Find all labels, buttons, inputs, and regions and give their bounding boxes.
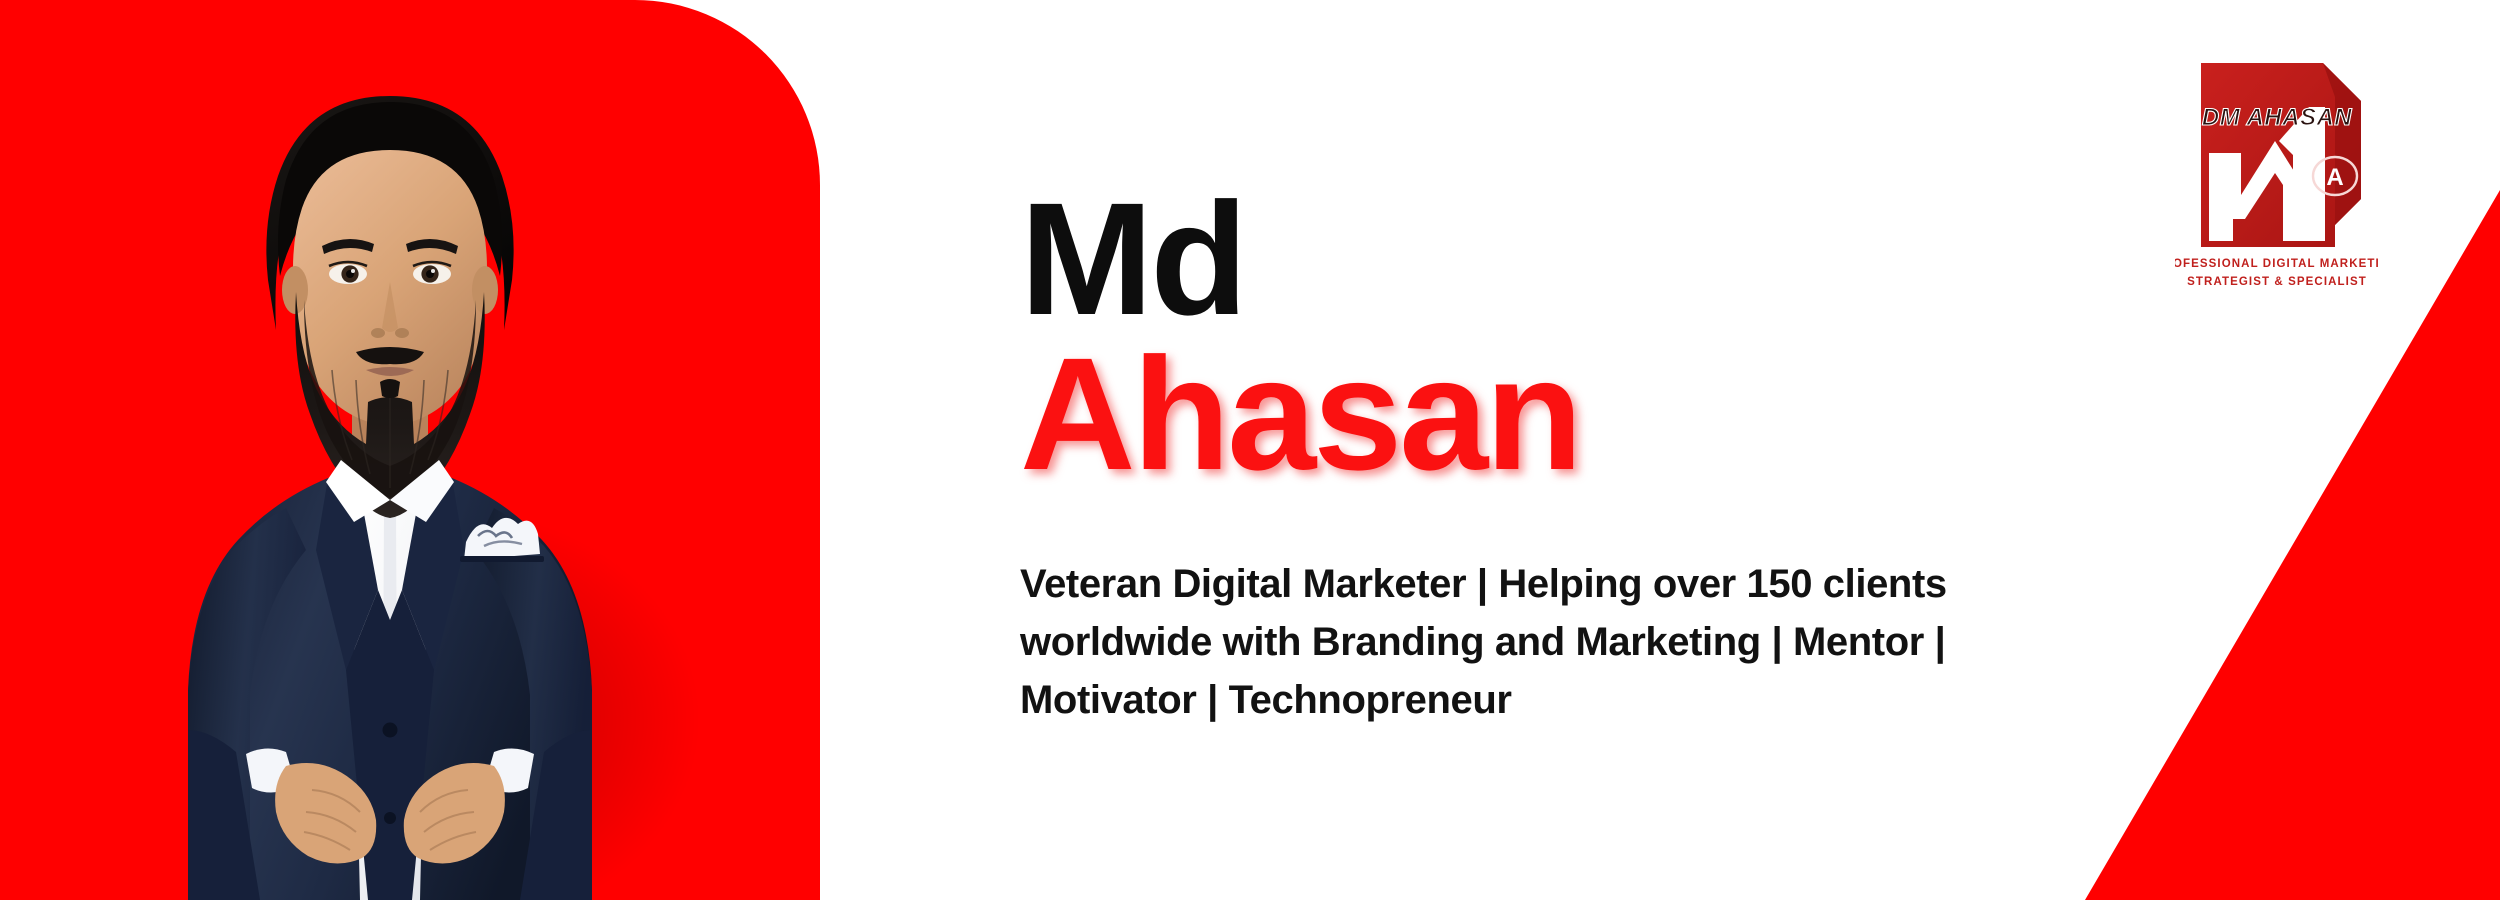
logo-subline-1: PROFESSIONAL DIGITAL MARKETING xyxy=(2175,258,2380,270)
brand-logo[interactable]: DM AHASAN A PROFESSIONAL DIGITAL MARKETI… xyxy=(2175,45,2380,310)
last-name: Ahasan xyxy=(1020,338,1580,490)
logo-wordmark: DM AHASAN xyxy=(2202,104,2352,131)
first-name: Md xyxy=(1020,185,1580,334)
name-block: Md Ahasan xyxy=(1020,185,1580,490)
logo-badge-letter: A xyxy=(2326,164,2343,191)
profile-banner: Md Ahasan Veteran Digital Marketer | Hel… xyxy=(0,0,2500,900)
logo-subline-2: STRATEGIST & SPECIALIST xyxy=(2187,276,2367,288)
tagline: Veteran Digital Marketer | Helping over … xyxy=(1020,555,1960,729)
portrait-photo xyxy=(60,30,720,900)
